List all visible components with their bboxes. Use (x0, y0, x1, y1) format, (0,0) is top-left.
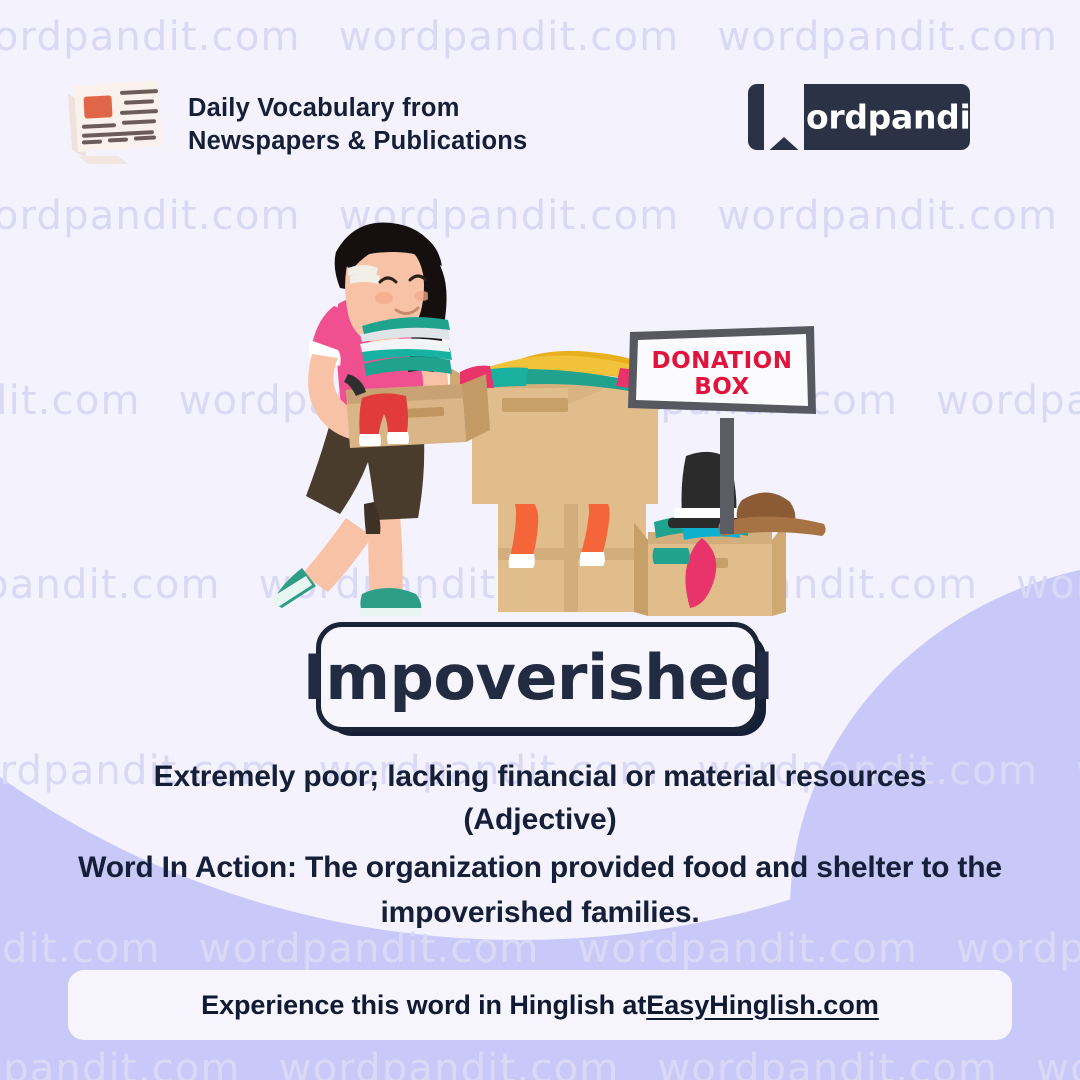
header-tagline: Daily Vocabulary from Newspapers & Publi… (188, 92, 527, 157)
bookmark-icon (764, 84, 804, 150)
word-in-action: Word In Action: The organization provide… (40, 845, 1040, 935)
header-tagline-line2: Newspapers & Publications (188, 125, 527, 158)
svg-text:BOX: BOX (694, 374, 750, 400)
footer-bar[interactable]: Experience this word in Hinglish at Easy… (68, 970, 1012, 1040)
definition-block: Extremely poor; lacking financial or mat… (40, 756, 1040, 935)
donation-illustration: DONATION BOX (250, 222, 850, 632)
card-header: Daily Vocabulary from Newspapers & Publi… (0, 0, 1080, 190)
header-tagline-line1: Daily Vocabulary from (188, 92, 527, 125)
word-box: Impoverished (316, 622, 760, 732)
svg-text:DONATION: DONATION (652, 348, 793, 374)
wordpandit-logo[interactable]: ordpandit (748, 84, 970, 150)
vocabulary-word: Impoverished (303, 641, 773, 714)
easyhinglish-link[interactable]: EasyHinglish.com (646, 990, 879, 1021)
part-of-speech: (Adjective) (40, 799, 1040, 842)
vocabulary-card: wordpandit.comwordpandit.comwordpandit.c… (0, 0, 1080, 1080)
footer-prefix: Experience this word in Hinglish at (201, 990, 646, 1021)
definition-meaning: Extremely poor; lacking financial or mat… (40, 756, 1040, 799)
newspaper-icon (58, 72, 170, 164)
logo-text: ordpandit (806, 98, 970, 137)
